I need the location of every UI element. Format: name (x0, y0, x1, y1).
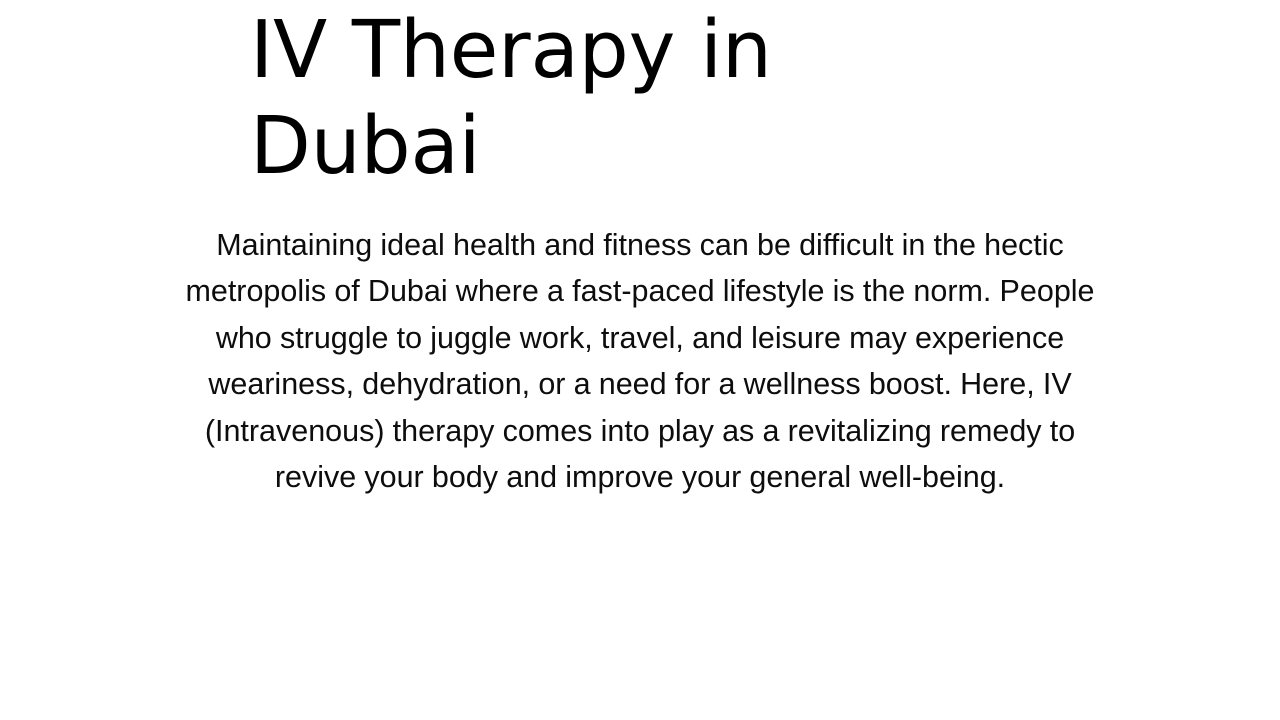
slide-title-block: IV Therapy in Dubai (250, 2, 950, 194)
body-paragraph: Maintaining ideal health and fitness can… (170, 222, 1110, 500)
presentation-slide: IV Therapy in Dubai Maintaining ideal he… (0, 0, 1280, 720)
page-title: IV Therapy in Dubai (250, 2, 950, 194)
slide-body-block: Maintaining ideal health and fitness can… (170, 222, 1110, 500)
